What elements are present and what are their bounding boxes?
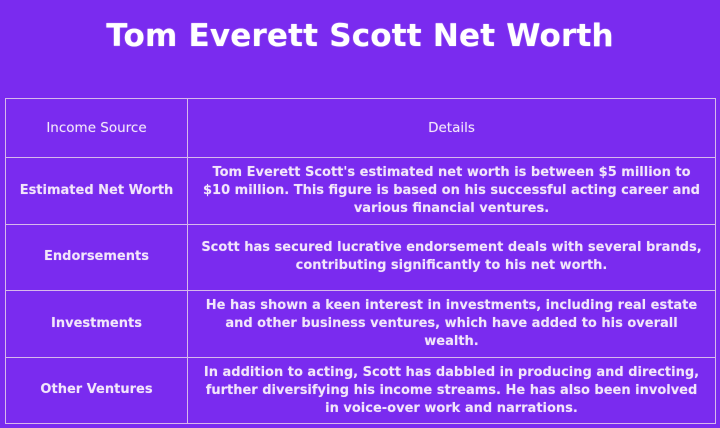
table-row: Estimated Net Worth Tom Everett Scott's … [6, 158, 716, 225]
table-row: Endorsements Scott has secured lucrative… [6, 224, 716, 290]
cell-details: Tom Everett Scott's estimated net worth … [188, 158, 716, 225]
table-row: Other Ventures In addition to acting, Sc… [6, 357, 716, 424]
column-header-income-source: Income Source [6, 99, 188, 158]
cell-details: In addition to acting, Scott has dabbled… [188, 357, 716, 424]
net-worth-table: Income Source Details Estimated Net Wort… [5, 98, 716, 424]
table-header: Income Source Details [6, 99, 716, 158]
table-row: Investments He has shown a keen interest… [6, 290, 716, 357]
cell-income-source: Investments [6, 290, 188, 357]
cell-details: Scott has secured lucrative endorsement … [188, 224, 716, 290]
cell-income-source: Estimated Net Worth [6, 158, 188, 225]
net-worth-infographic: Tom Everett Scott Net Worth Income Sourc… [0, 0, 720, 428]
cell-details: He has shown a keen interest in investme… [188, 290, 716, 357]
column-header-details: Details [188, 99, 716, 158]
table-body: Estimated Net Worth Tom Everett Scott's … [6, 158, 716, 424]
cell-income-source: Endorsements [6, 224, 188, 290]
table-header-row: Income Source Details [6, 99, 716, 158]
page-title: Tom Everett Scott Net Worth [0, 18, 720, 54]
cell-income-source: Other Ventures [6, 357, 188, 424]
